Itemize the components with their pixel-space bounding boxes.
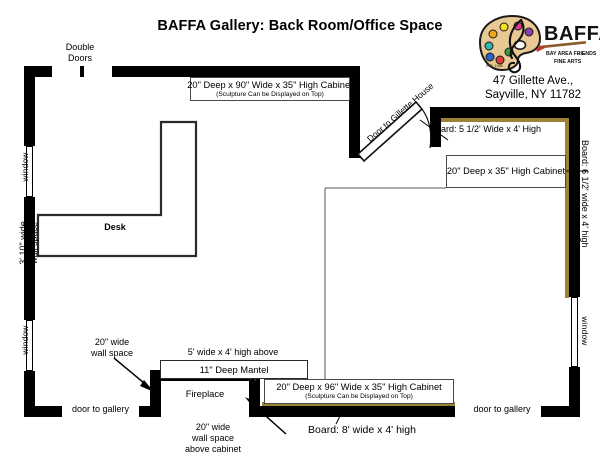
desk-label: Desk xyxy=(60,222,170,232)
board-right-leader xyxy=(566,166,590,176)
mantel-above-label: 5' wide x 4' high above xyxy=(158,347,308,358)
desk[interactable] xyxy=(36,120,196,260)
door-to-gallery-left-label: door to gallery xyxy=(63,404,138,415)
board-bottom-leader xyxy=(330,408,354,428)
door-to-gallery-right-label: door to gallery xyxy=(463,404,541,415)
board-bottom-label: Board: 8' wide x 4' high xyxy=(247,425,477,436)
floor-plan-canvas: BAFFA Gallery: Back Room/Office Space ES… xyxy=(0,0,600,464)
board-top-right-leader xyxy=(418,118,458,144)
mantel-label: 11" Deep Mantel xyxy=(200,364,269,375)
double-doors-label: Double Doors xyxy=(40,42,120,64)
fireplace-wall-space-arrow xyxy=(110,356,165,400)
mantel: 11" Deep Mantel xyxy=(160,360,308,379)
